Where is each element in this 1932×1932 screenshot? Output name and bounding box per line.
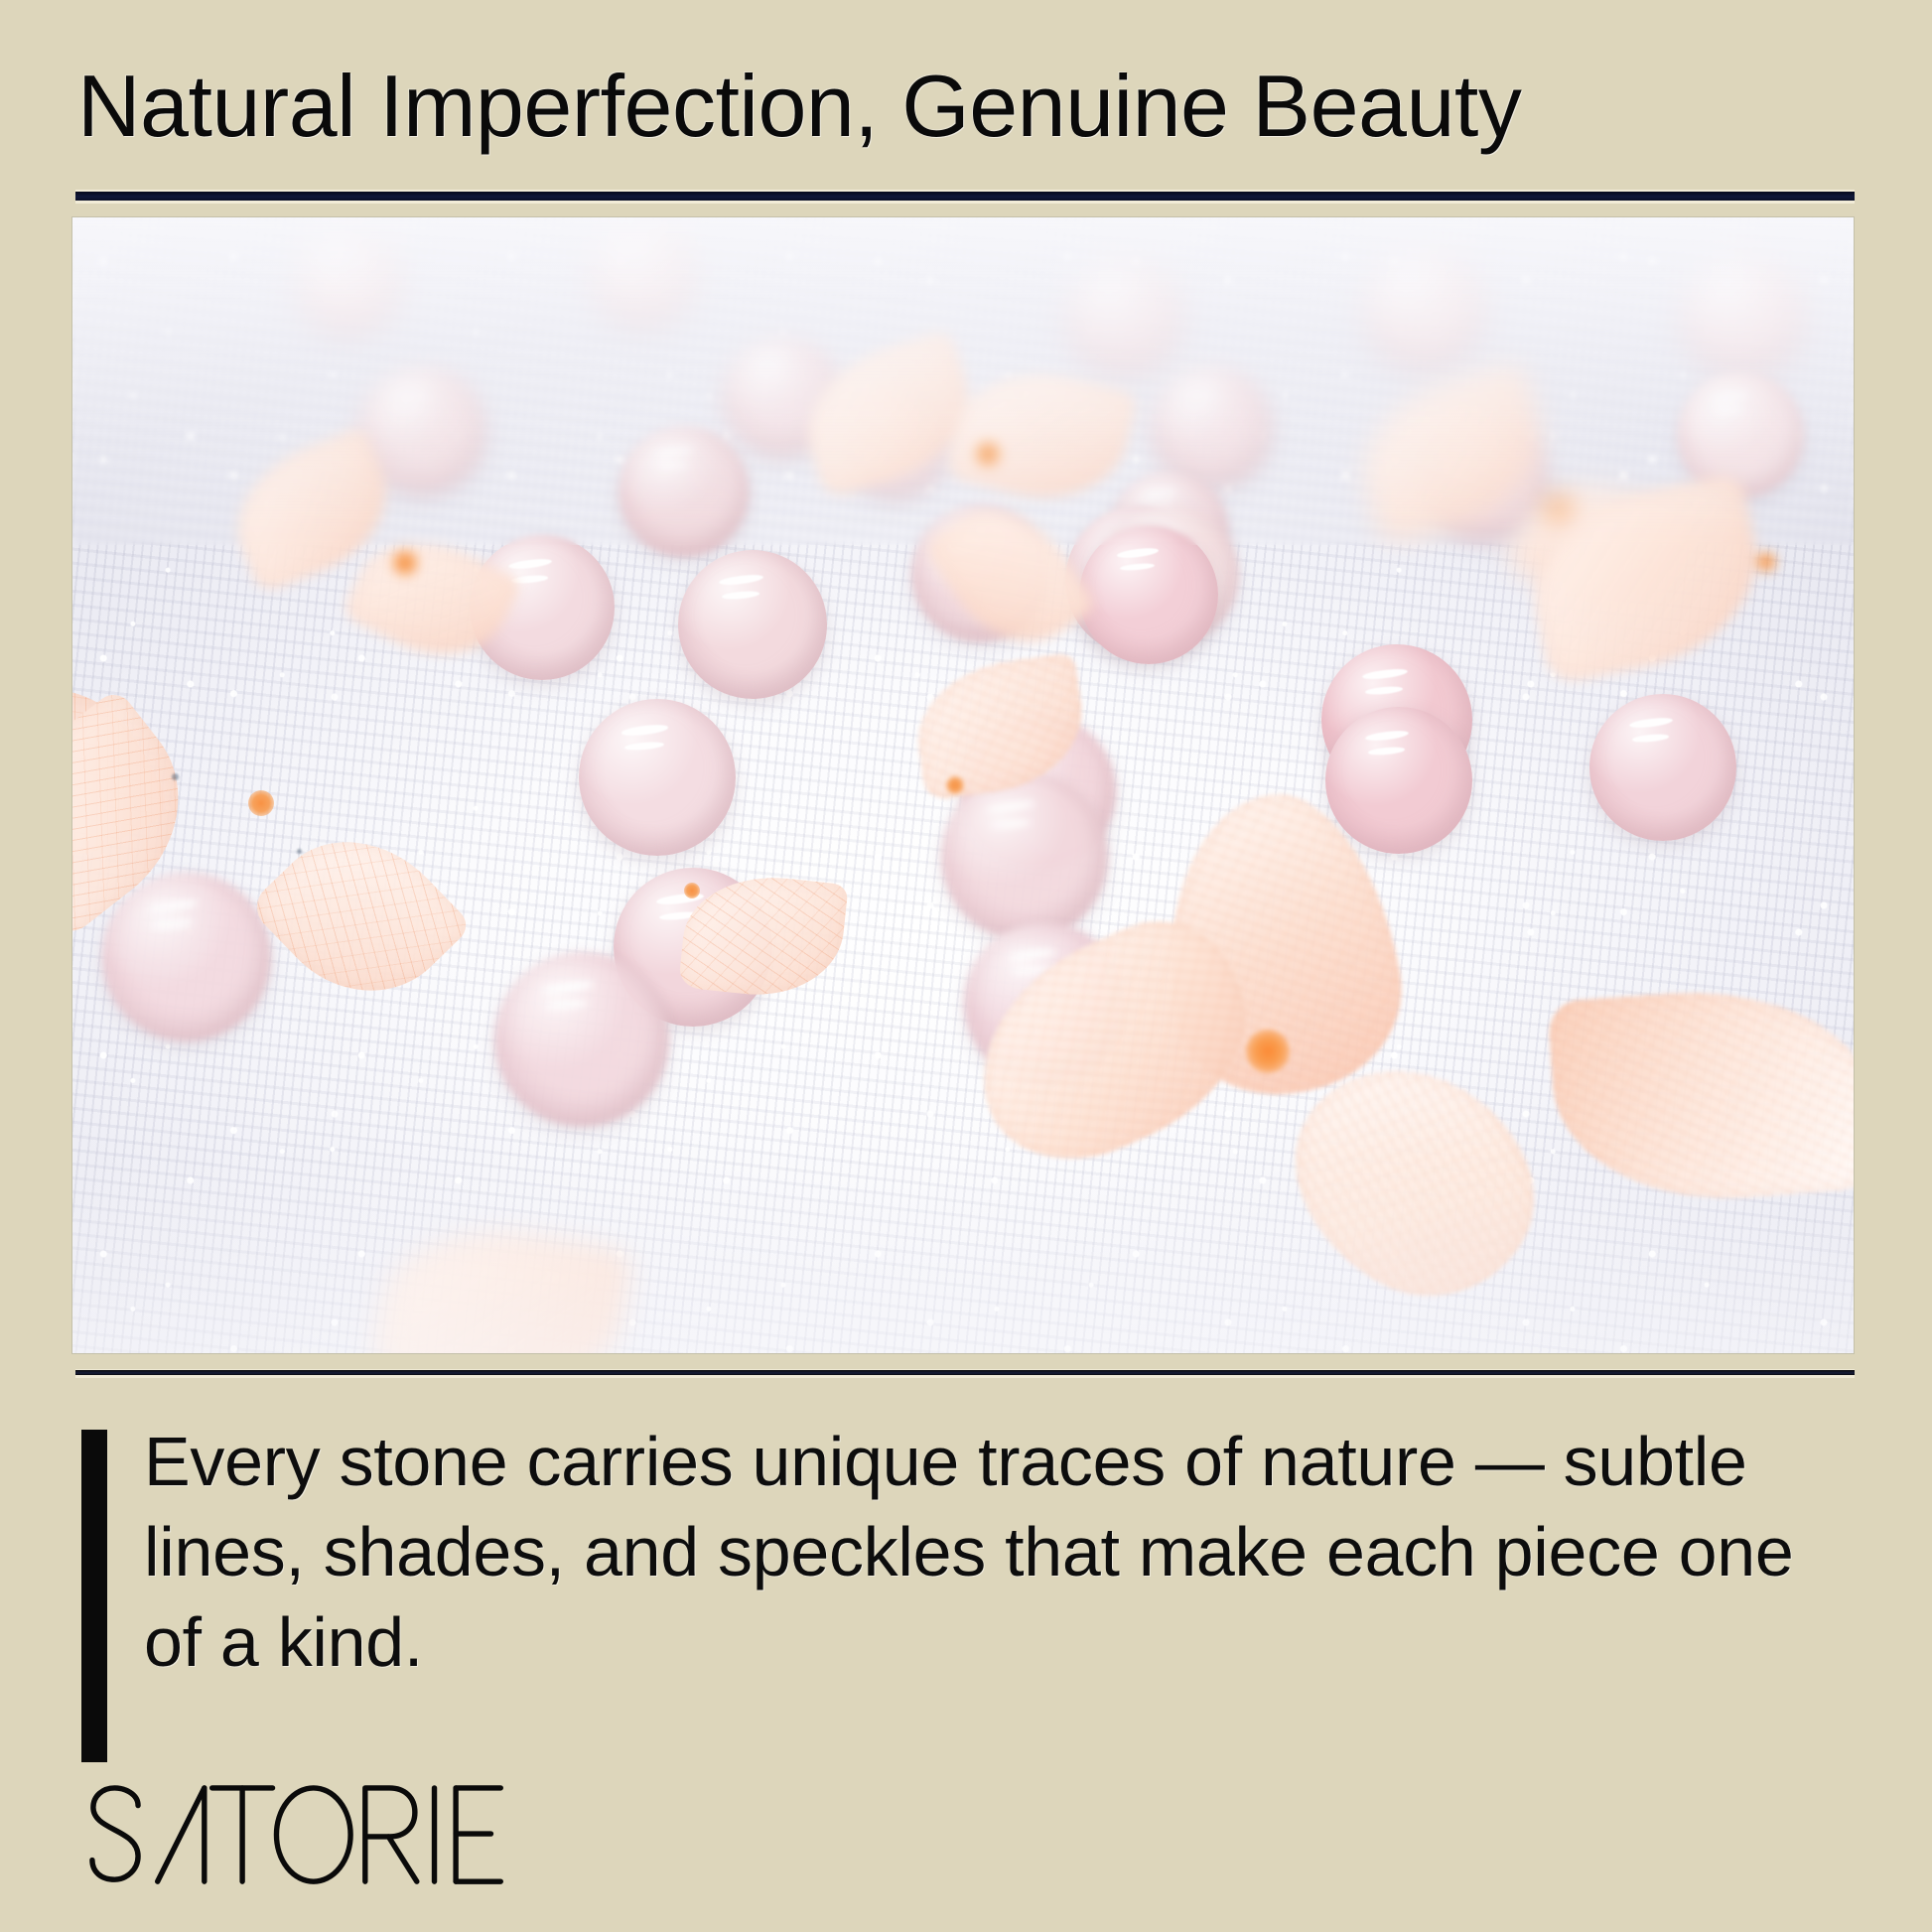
page-title: Natural Imperfection, Genuine Beauty xyxy=(77,63,1855,150)
bead xyxy=(494,952,669,1127)
caption-divider-rule xyxy=(75,1369,1855,1378)
quote-accent-bar xyxy=(81,1430,107,1762)
poster-root: Natural Imperfection, Genuine Beauty xyxy=(0,0,1932,1932)
bead xyxy=(1589,694,1736,841)
bead xyxy=(579,699,736,856)
brand-logo xyxy=(87,1782,506,1891)
pressed-flower xyxy=(112,654,410,952)
pressed-petal xyxy=(678,868,847,997)
fabric-speck xyxy=(297,849,302,854)
pressed-petal xyxy=(926,674,1105,813)
caption-text: Every stone carries unique traces of nat… xyxy=(144,1417,1822,1688)
bead xyxy=(678,550,827,699)
product-photo xyxy=(72,217,1854,1353)
fabric-speck xyxy=(172,773,179,780)
depth-of-field-haze-top xyxy=(72,217,1854,545)
bead xyxy=(1079,525,1218,664)
depth-of-field-haze-bottom xyxy=(72,1155,1854,1353)
title-divider-rule xyxy=(75,190,1855,204)
bead xyxy=(1325,707,1472,854)
